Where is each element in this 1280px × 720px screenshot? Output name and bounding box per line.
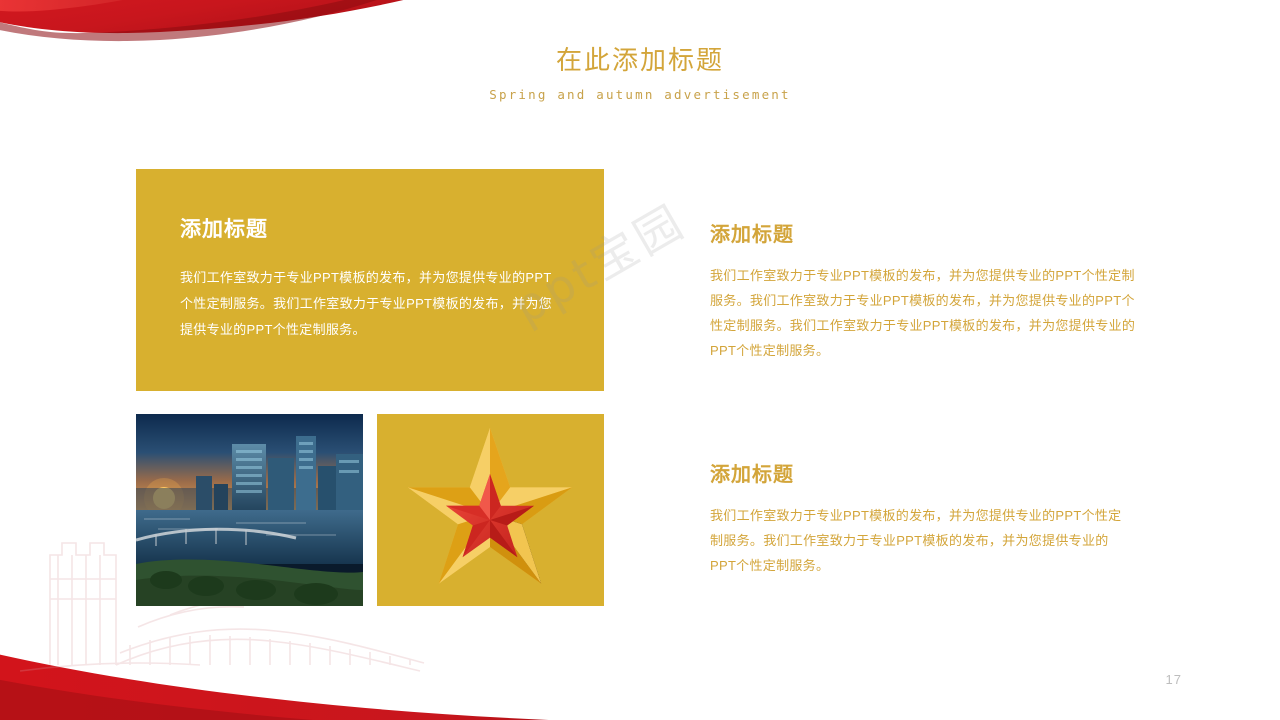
right-text-block-2: 添加标题 我们工作室致力于专业PPT模板的发布，并为您提供专业的PPT个性定制服… — [710, 458, 1130, 578]
photo-illustration — [136, 414, 363, 606]
slide-header: 在此添加标题 Spring and autumn advertisement — [0, 46, 1280, 102]
slide-canvas: 在此添加标题 Spring and autumn advertisement 添… — [0, 0, 1280, 720]
gold-card-title: 添加标题 — [180, 213, 564, 243]
gold-card-body: 我们工作室致力于专业PPT模板的发布，并为您提供专业的PPT个性定制服务。我们工… — [180, 265, 564, 343]
star-illustration — [377, 414, 604, 606]
five-pointed-star-graphic — [377, 414, 604, 606]
red-ribbon-bottom-decoration — [0, 610, 740, 720]
gold-highlight-card: 添加标题 我们工作室致力于专业PPT模板的发布，并为您提供专业的PPT个性定制服… — [136, 169, 604, 391]
right-text-block-1: 添加标题 我们工作室致力于专业PPT模板的发布，并为您提供专业的PPT个性定制服… — [710, 218, 1142, 363]
city-waterfront-photo — [136, 414, 363, 606]
right-block-1-body: 我们工作室致力于专业PPT模板的发布，并为您提供专业的PPT个性定制服务。我们工… — [710, 263, 1142, 363]
right-block-1-title: 添加标题 — [710, 218, 1142, 247]
page-number: 17 — [1166, 672, 1182, 687]
page-title: 在此添加标题 — [0, 46, 1280, 77]
right-block-2-title: 添加标题 — [710, 458, 1130, 487]
page-subtitle: Spring and autumn advertisement — [0, 87, 1280, 102]
right-block-2-body: 我们工作室致力于专业PPT模板的发布，并为您提供专业的PPT个性定制服务。我们工… — [710, 503, 1130, 578]
